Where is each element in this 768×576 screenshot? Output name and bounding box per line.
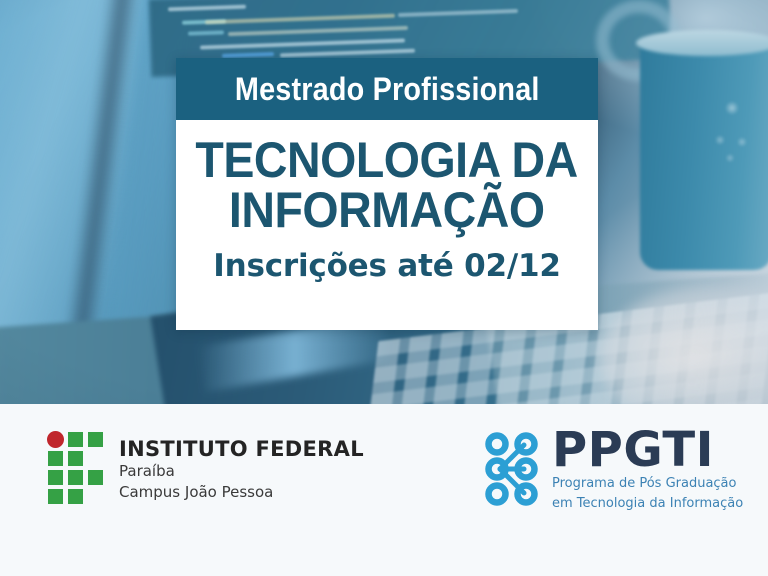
- card-body: TECNOLOGIA DA INFORMAÇÃO Inscrições até …: [176, 120, 598, 330]
- ifpb-square: [88, 432, 103, 447]
- ribbon-label: Mestrado Profissional: [235, 71, 540, 108]
- ifpb-square: [68, 489, 83, 504]
- ppgti-tagline-line-2: em Tecnologia da Informação: [552, 496, 743, 512]
- ifpb-state: Paraíba: [119, 462, 364, 481]
- program-title-line-2: INFORMAÇÃO: [229, 186, 545, 234]
- ifpb-square: [48, 470, 63, 485]
- ppgti-text-block: PPGTI Programa de Pós Graduação em Tecno…: [552, 428, 743, 512]
- ifpb-campus: Campus João Pessoa: [119, 483, 364, 502]
- ifpb-square: [48, 451, 63, 466]
- ifpb-square: [68, 451, 83, 466]
- ppgti-network-icon: [481, 431, 543, 512]
- ifpb-mark-icon: [48, 432, 106, 502]
- ifpb-square: [88, 470, 103, 485]
- poster-canvas: Mestrado Profissional TECNOLOGIA DA INFO…: [0, 0, 768, 576]
- ifpb-square: [48, 489, 63, 504]
- ribbon-banner: Mestrado Profissional: [176, 58, 598, 120]
- ifpb-square: [68, 432, 83, 447]
- ppgti-wordmark: PPGTI: [552, 428, 743, 472]
- program-title-line-1: TECNOLOGIA DA: [196, 136, 578, 184]
- ifpb-square: [68, 470, 83, 485]
- ppgti-logo: PPGTI Programa de Pós Graduação em Tecno…: [481, 428, 743, 512]
- footer-logo-band: INSTITUTO FEDERAL Paraíba Campus João Pe…: [0, 404, 768, 576]
- enrollment-deadline: Inscrições até 02/12: [213, 248, 560, 284]
- ppgti-tagline-line-1: Programa de Pós Graduação: [552, 476, 743, 492]
- ifpb-logo: INSTITUTO FEDERAL Paraíba Campus João Pe…: [48, 432, 364, 502]
- ifpb-red-circle-icon: [47, 431, 64, 448]
- announcement-card: Mestrado Profissional TECNOLOGIA DA INFO…: [176, 58, 598, 330]
- ifpb-text-block: INSTITUTO FEDERAL Paraíba Campus João Pe…: [119, 432, 364, 502]
- ifpb-name: INSTITUTO FEDERAL: [119, 438, 364, 460]
- footer-inner: INSTITUTO FEDERAL Paraíba Campus João Pe…: [0, 404, 768, 576]
